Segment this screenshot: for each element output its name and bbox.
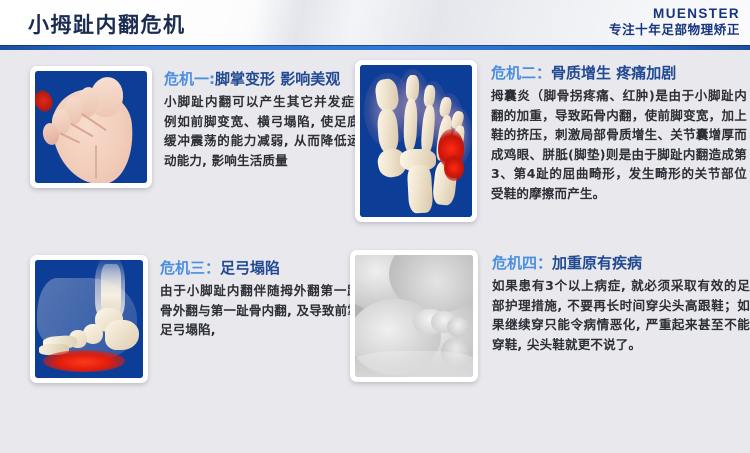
panel-four-heading-rest: 加重原有疾病	[552, 254, 642, 272]
panel-crisis-two: 危机二：骨质增生 疼痛加剧 拇囊炎（脚骨拐疼痛、红肿)是由于小脚趾内翻的加重，导…	[355, 60, 745, 222]
panel-crisis-three: 危机三：足弓塌陷 由于小脚趾内翻伴随拇外翻第一趾骨外翻与第一趾骨内翻, 及导致前…	[30, 255, 360, 383]
panel-one-heading: 危机一:脚掌变形 影响美观	[164, 70, 360, 88]
panel-two-body: 拇囊炎（脚骨拐疼痛、红肿)是由于小脚趾内翻的加重，导致跖骨内翻，使前脚变宽，加上…	[491, 86, 747, 203]
panel-three-text: 危机三：足弓塌陷 由于小脚趾内翻伴随拇外翻第一趾骨外翻与第一趾骨内翻, 及导致前…	[148, 255, 360, 340]
content-area: 危机一:脚掌变形 影响美观 小脚趾内翻可以产生其它并发症, 例如前脚变宽、横弓塌…	[0, 50, 750, 453]
brand-tagline: 专注十年足部物理矫正	[609, 22, 740, 38]
panel-four-heading: 危机四：加重原有疾病	[492, 254, 750, 272]
panel-one-text: 危机一:脚掌变形 影响美观 小脚趾内翻可以产生其它并发症, 例如前脚变宽、横弓塌…	[152, 66, 360, 170]
panel-one-heading-lead: 危机一:	[164, 70, 215, 88]
infographic-page: 小拇趾内翻危机 MUENSTER 专注十年足部物理矫正	[0, 0, 750, 453]
foot-top-view-illustration	[30, 66, 152, 188]
panel-two-heading: 危机二：骨质增生 疼痛加剧	[491, 64, 747, 82]
panel-four-text: 危机四：加重原有疾病 如果患有3个以上病症, 就必须采取有效的足部护理措施, 不…	[478, 250, 750, 354]
panel-one-heading-rest: 脚掌变形 影响美观	[215, 70, 340, 88]
panel-two-text: 危机二：骨质增生 疼痛加剧 拇囊炎（脚骨拐疼痛、红肿)是由于小脚趾内翻的加重，导…	[477, 60, 747, 203]
panel-crisis-four: 危机四：加重原有疾病 如果患有3个以上病症, 就必须采取有效的足部护理措施, 不…	[350, 250, 745, 382]
brand-block: MUENSTER 专注十年足部物理矫正	[609, 6, 740, 38]
foot-bone-xray-illustration	[355, 60, 477, 222]
page-header: 小拇趾内翻危机 MUENSTER 专注十年足部物理矫正	[0, 0, 750, 45]
panel-two-heading-rest: 骨质增生 疼痛加剧	[551, 64, 676, 82]
panel-four-heading-lead: 危机四：	[492, 254, 552, 272]
panel-crisis-one: 危机一:脚掌变形 影响美观 小脚趾内翻可以产生其它并发症, 例如前脚变宽、横弓塌…	[30, 66, 360, 188]
page-title: 小拇趾内翻危机	[28, 9, 186, 39]
panel-three-heading-rest: 足弓塌陷	[220, 259, 280, 277]
panel-three-body: 由于小脚趾内翻伴随拇外翻第一趾骨外翻与第一趾骨内翻, 及导致前掌足弓塌陷,	[160, 281, 360, 340]
panel-four-body: 如果患有3个以上病症, 就必须采取有效的足部护理措施, 不要再长时间穿尖头高跟鞋…	[492, 276, 750, 354]
panel-three-heading: 危机三：足弓塌陷	[160, 259, 360, 277]
panel-one-body: 小脚趾内翻可以产生其它并发症, 例如前脚变宽、横弓塌陷, 使足底缓冲震荡的能力减…	[164, 92, 360, 170]
foot-arch-side-illustration	[30, 255, 148, 383]
brand-name: MUENSTER	[609, 6, 740, 21]
panel-two-heading-lead: 危机二：	[491, 64, 551, 82]
bare-feet-photo	[350, 250, 478, 382]
panel-three-heading-lead: 危机三：	[160, 259, 220, 277]
